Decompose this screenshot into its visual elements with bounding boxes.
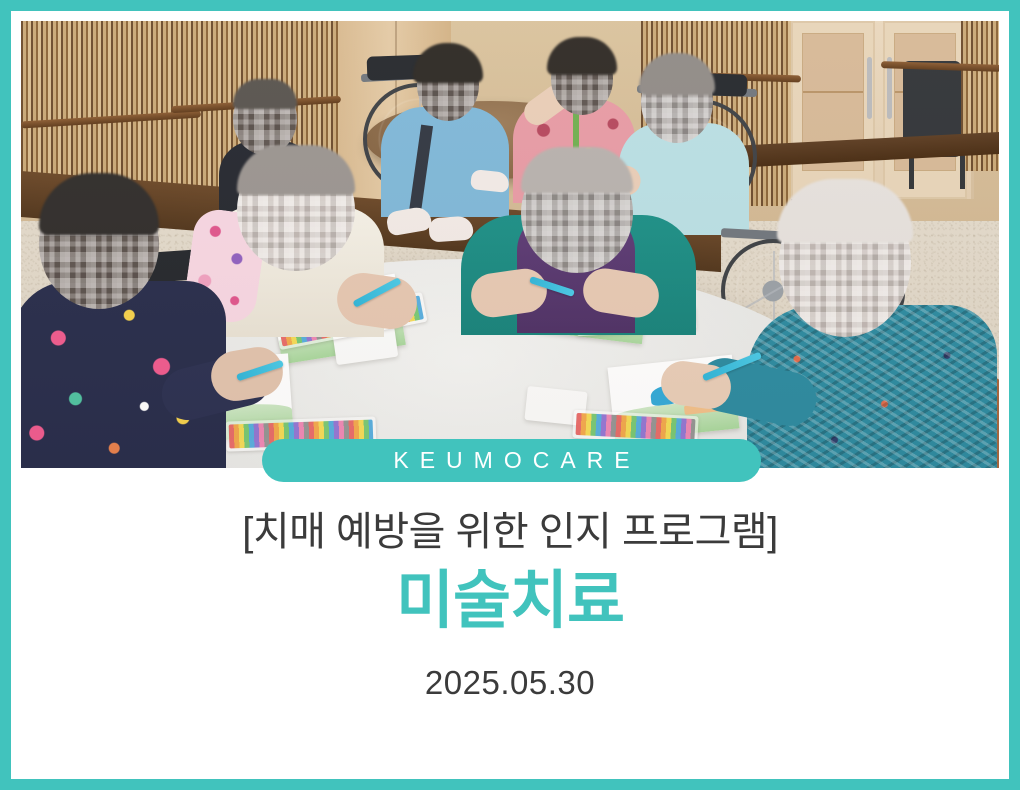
program-date: 2025.05.30 xyxy=(11,636,1009,702)
person-hair xyxy=(547,37,617,75)
poster-inner: KEUMOCARE [치매 예방을 위한 인지 프로그램] 미술치료 2025.… xyxy=(11,11,1009,779)
participant-left xyxy=(21,171,251,468)
poster-card: KEUMOCARE [치매 예방을 위한 인지 프로그램] 미술치료 2025.… xyxy=(0,0,1020,790)
activity-photo xyxy=(21,21,999,468)
caption-block: [치매 예방을 위한 인지 프로그램] 미술치료 2025.05.30 xyxy=(11,481,1009,702)
badge-label: KEUMOCARE xyxy=(382,449,640,472)
participant-center xyxy=(461,153,696,323)
photo-scene xyxy=(21,21,999,468)
program-title: 미술치료 xyxy=(11,555,1009,636)
person-hair xyxy=(413,43,483,83)
person-hair xyxy=(777,179,913,243)
person-hair xyxy=(521,147,633,193)
person-hair xyxy=(39,173,159,235)
program-subtitle: [치매 예방을 위한 인지 프로그램] xyxy=(11,481,1009,555)
door-pull-handle-icon xyxy=(867,57,872,119)
keumocare-badge: KEUMOCARE xyxy=(262,439,761,482)
participant-right xyxy=(739,187,999,468)
door-leaf-left xyxy=(791,21,875,199)
person-hair xyxy=(237,145,355,195)
crayon-row xyxy=(576,413,696,441)
person-hair xyxy=(233,79,297,109)
